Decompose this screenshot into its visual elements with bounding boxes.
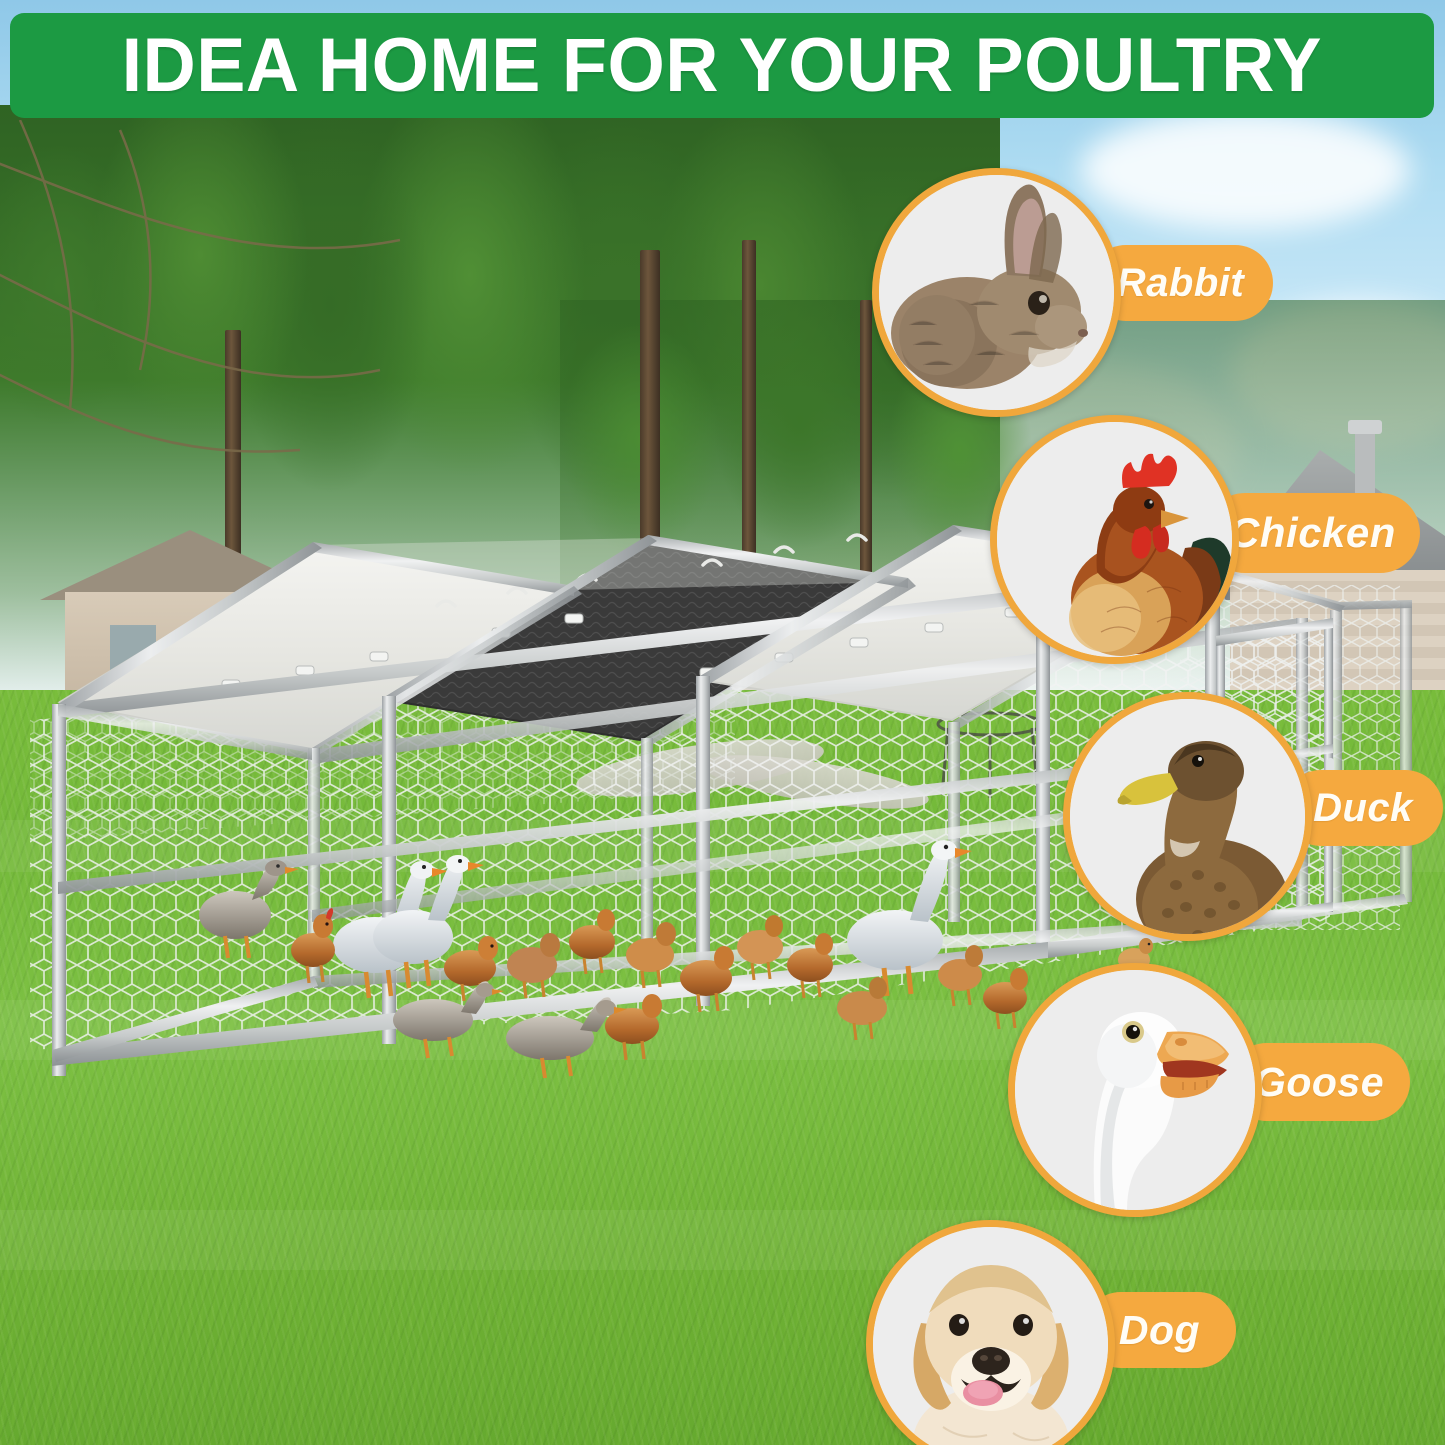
callout-photo-goose[interactable] [1008,963,1262,1217]
banner-title: IDEA HOME FOR YOUR POULTRY [122,28,1322,104]
callout-photo-chicken[interactable] [990,415,1239,664]
goose [199,860,299,958]
cloud-shape [1080,110,1410,230]
rooster-icon [997,422,1232,657]
callout-label-chicken: Chicken [1229,509,1396,557]
rabbit-icon [879,175,1114,410]
product-marketing-image: Rabbit [0,0,1445,1445]
goose [506,997,627,1078]
poultry-flock [180,840,1080,1090]
callout-photo-rabbit[interactable] [872,168,1121,417]
callout-label-rabbit: Rabbit [1117,261,1244,306]
dog-icon [873,1227,1108,1445]
mow-stripe [0,1210,1445,1270]
header-banner: IDEA HOME FOR YOUR POULTRY [10,13,1434,118]
branch-overlay [0,120,640,540]
callout-photo-duck[interactable] [1063,692,1312,941]
callout-label-dog: Dog [1119,1307,1200,1354]
goose-icon [1015,970,1255,1210]
duck-icon [1070,699,1305,934]
callout-label-goose: Goose [1254,1059,1384,1106]
callout-label-duck: Duck [1313,786,1413,831]
callout-photo-dog[interactable] [866,1220,1115,1445]
goose [393,981,504,1058]
